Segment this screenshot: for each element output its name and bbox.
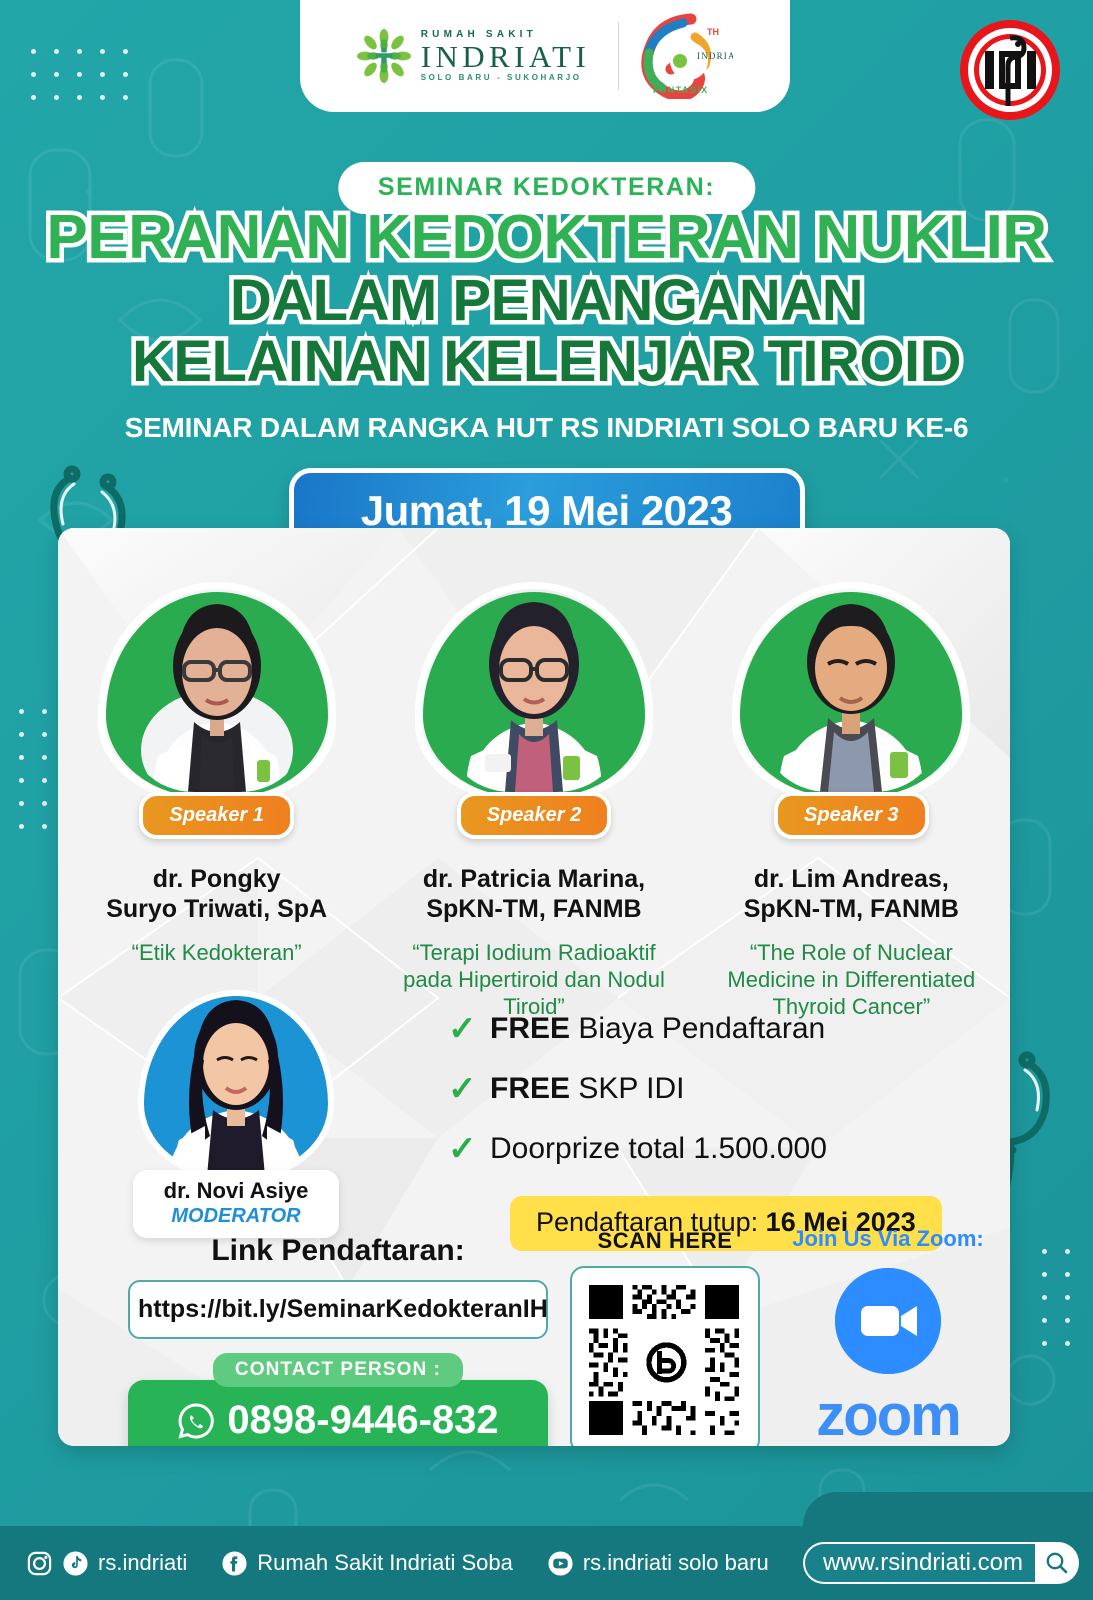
whatsapp-contact-box[interactable]: 0898-9446-832 (dr. Krisandryka) [128,1380,548,1446]
svg-text:TH: TH [707,27,719,37]
zoom-wordmark: zoom [788,1382,988,1446]
check-icon: ✓ [448,1132,474,1166]
whatsapp-icon [177,1402,215,1440]
benefit-item-1: ✓ FREE Biaya Pendaftaran [448,1012,978,1046]
registration-link[interactable]: https://bit.ly/SeminarKedokteranIH [128,1280,548,1339]
benefit-text-1: FREE Biaya Pendaftaran [490,1012,825,1046]
tiktok-icon [62,1550,89,1577]
footer-curve [803,1492,1093,1526]
zoom-camera-icon [835,1268,941,1374]
zoom-section: Join Us Via Zoom: zoom [788,1226,988,1446]
speaker-badge-1: Speaker 1 [139,792,294,839]
speaker-name-line-1: dr. Patricia Marina, [423,865,645,893]
instagram-icon [26,1550,53,1577]
qr-section: SCAN HERE [570,1228,760,1446]
speaker-card-2: Speaker 2 dr. Patricia Marina, SpKN-TM, … [384,550,684,1020]
speaker-photo-1 [101,550,333,798]
check-icon: ✓ [448,1012,474,1046]
dot-grid-top-left [22,40,137,109]
speaker-card-3: Speaker 3 dr. Lim Andreas, SpKN-TM, FANM… [701,550,1001,1020]
speaker-card-1: Speaker 1 dr. Pongky Suryo Triwati, SpA … [67,550,367,1020]
speaker-name-2: dr. Patricia Marina, SpKN-TM, FANMB [384,865,684,924]
speaker-name-line-2: SpKN-TM, FANMB [744,895,959,923]
moderator-role: MODERATOR [139,1205,333,1228]
whatsapp-number: 0898-9446-832 [227,1398,498,1443]
whatsapp-number-row: 0898-9446-832 [138,1398,538,1443]
footer-item-facebook[interactable]: Rumah Sakit Indriati Soba [221,1550,513,1577]
moderator-photo [136,968,336,1180]
youtube-icon [547,1550,574,1577]
benefit-strong-1: FREE [490,1012,570,1045]
speaker-photo-image-2 [441,554,627,792]
title-line-1: PERANAN KEDOKTERAN NUKLIR [0,208,1093,269]
indriati-leaf-icon [357,29,411,83]
website-pill[interactable]: www.rsindriati.com [803,1542,1079,1584]
speaker-badge-2: Speaker 2 [457,792,612,839]
speaker-badge-3: Speaker 3 [774,792,929,839]
benefit-rest-1: Biaya Pendaftaran [570,1012,825,1045]
benefit-strong-2: FREE [490,1072,570,1105]
speaker-name-1: dr. Pongky Suryo Triwati, SpA [67,865,367,924]
website-url: www.rsindriati.com [805,1544,1035,1582]
speaker-topic-3: “The Role of Nuclear Medicine in Differe… [701,940,1001,1020]
registration-heading: Link Pendaftaran: [128,1234,548,1268]
footer-label-instagram: rs.indriati [98,1550,187,1576]
speaker-photo-3 [735,550,967,798]
benefit-text-3: Doorprize total 1.500.000 [490,1132,827,1166]
check-icon: ✓ [448,1072,474,1106]
poster-root: RUMAH SAKIT INDRIATI SOLO BARU - SUKOHAR… [0,0,1093,1600]
speaker-topic-1: “Etik Kedokteran” [67,940,367,967]
zoom-heading: Join Us Via Zoom: [788,1226,988,1252]
main-content-card: Speaker 1 dr. Pongky Suryo Triwati, SpA … [58,528,1010,1446]
poster-subtitle: SEMINAR DALAM RANGKA HUT RS INDRIATI SOL… [0,412,1093,444]
footer-item-youtube[interactable]: rs.indriati solo baru [547,1550,769,1577]
speaker-photo-image-1 [124,554,310,792]
speaker-photo-image-3 [758,554,944,792]
speaker-photo-2 [418,550,650,798]
moderator-photo-image [153,970,319,1176]
qr-code[interactable] [570,1266,760,1446]
moderator-card: dr. Novi Asiye MODERATOR [106,968,366,1238]
logo-line-2: INDRIATI [421,41,591,72]
svg-text:INDRIATI: INDRIATI [697,51,733,61]
title-line-3: KELAINAN KELENJAR TIROID [0,334,1093,391]
header-logo-bar: RUMAH SAKIT INDRIATI SOLO BARU - SUKOHAR… [300,0,790,112]
benefit-item-3: ✓ Doorprize total 1.500.000 [448,1132,978,1166]
contact-person-name: (dr. Krisandryka) [138,1445,538,1446]
footer-item-instagram-tiktok[interactable]: rs.indriati [26,1550,187,1577]
title-line-2: DALAM PENANGANAN [0,273,1093,330]
facebook-icon [221,1550,248,1577]
speaker-name-3: dr. Lim Andreas, SpKN-TM, FANMB [701,865,1001,924]
contact-person-label: CONTACT PERSON : [213,1353,463,1387]
benefit-item-2: ✓ FREE SKP IDI [448,1072,978,1106]
benefit-rest-3: Doorprize total 1.500.000 [490,1132,827,1165]
poster-title: PERANAN KEDOKTERAN NUKLIR DALAM PENANGAN… [0,208,1093,390]
svg-text:FUNTASIX: FUNTASIX [653,85,709,95]
search-icon [1035,1550,1079,1576]
anniversary-logo: TH INDRIATI FUNTASIX [633,13,733,99]
hospital-logo: RUMAH SAKIT INDRIATI SOLO BARU - SUKOHAR… [357,29,605,83]
logo-line-3: SOLO BARU - SUKOHARJO [421,74,591,82]
idi-logo [949,18,1071,122]
speaker-name-line-1: dr. Lim Andreas, [754,865,949,893]
moderator-name-card: dr. Novi Asiye MODERATOR [133,1170,339,1238]
speakers-row: Speaker 1 dr. Pongky Suryo Triwati, SpA … [58,550,1010,1020]
speaker-topic-2: “Terapi Iodium Radioaktif pada Hipertiro… [384,940,684,1020]
footer-bar: rs.indriati Rumah Sakit Indriati Soba rs… [0,1526,1093,1600]
registration-section: Link Pendaftaran: https://bit.ly/Seminar… [128,1234,548,1446]
benefit-rest-2: SKP IDI [570,1072,685,1105]
moderator-name: dr. Novi Asiye [139,1178,333,1204]
footer-label-facebook: Rumah Sakit Indriati Soba [257,1550,513,1576]
dot-grid-left-middle [10,700,56,838]
benefit-text-2: FREE SKP IDI [490,1072,685,1106]
speaker-name-line-2: SpKN-TM, FANMB [426,895,641,923]
qr-heading: SCAN HERE [570,1228,760,1254]
benefits-list: ✓ FREE Biaya Pendaftaran ✓ FREE SKP IDI … [448,1012,978,1251]
speaker-name-line-2: Suryo Triwati, SpA [106,895,327,923]
footer-label-youtube: rs.indriati solo baru [583,1550,769,1576]
speaker-name-line-1: dr. Pongky [153,865,281,893]
logo-divider [618,22,619,90]
